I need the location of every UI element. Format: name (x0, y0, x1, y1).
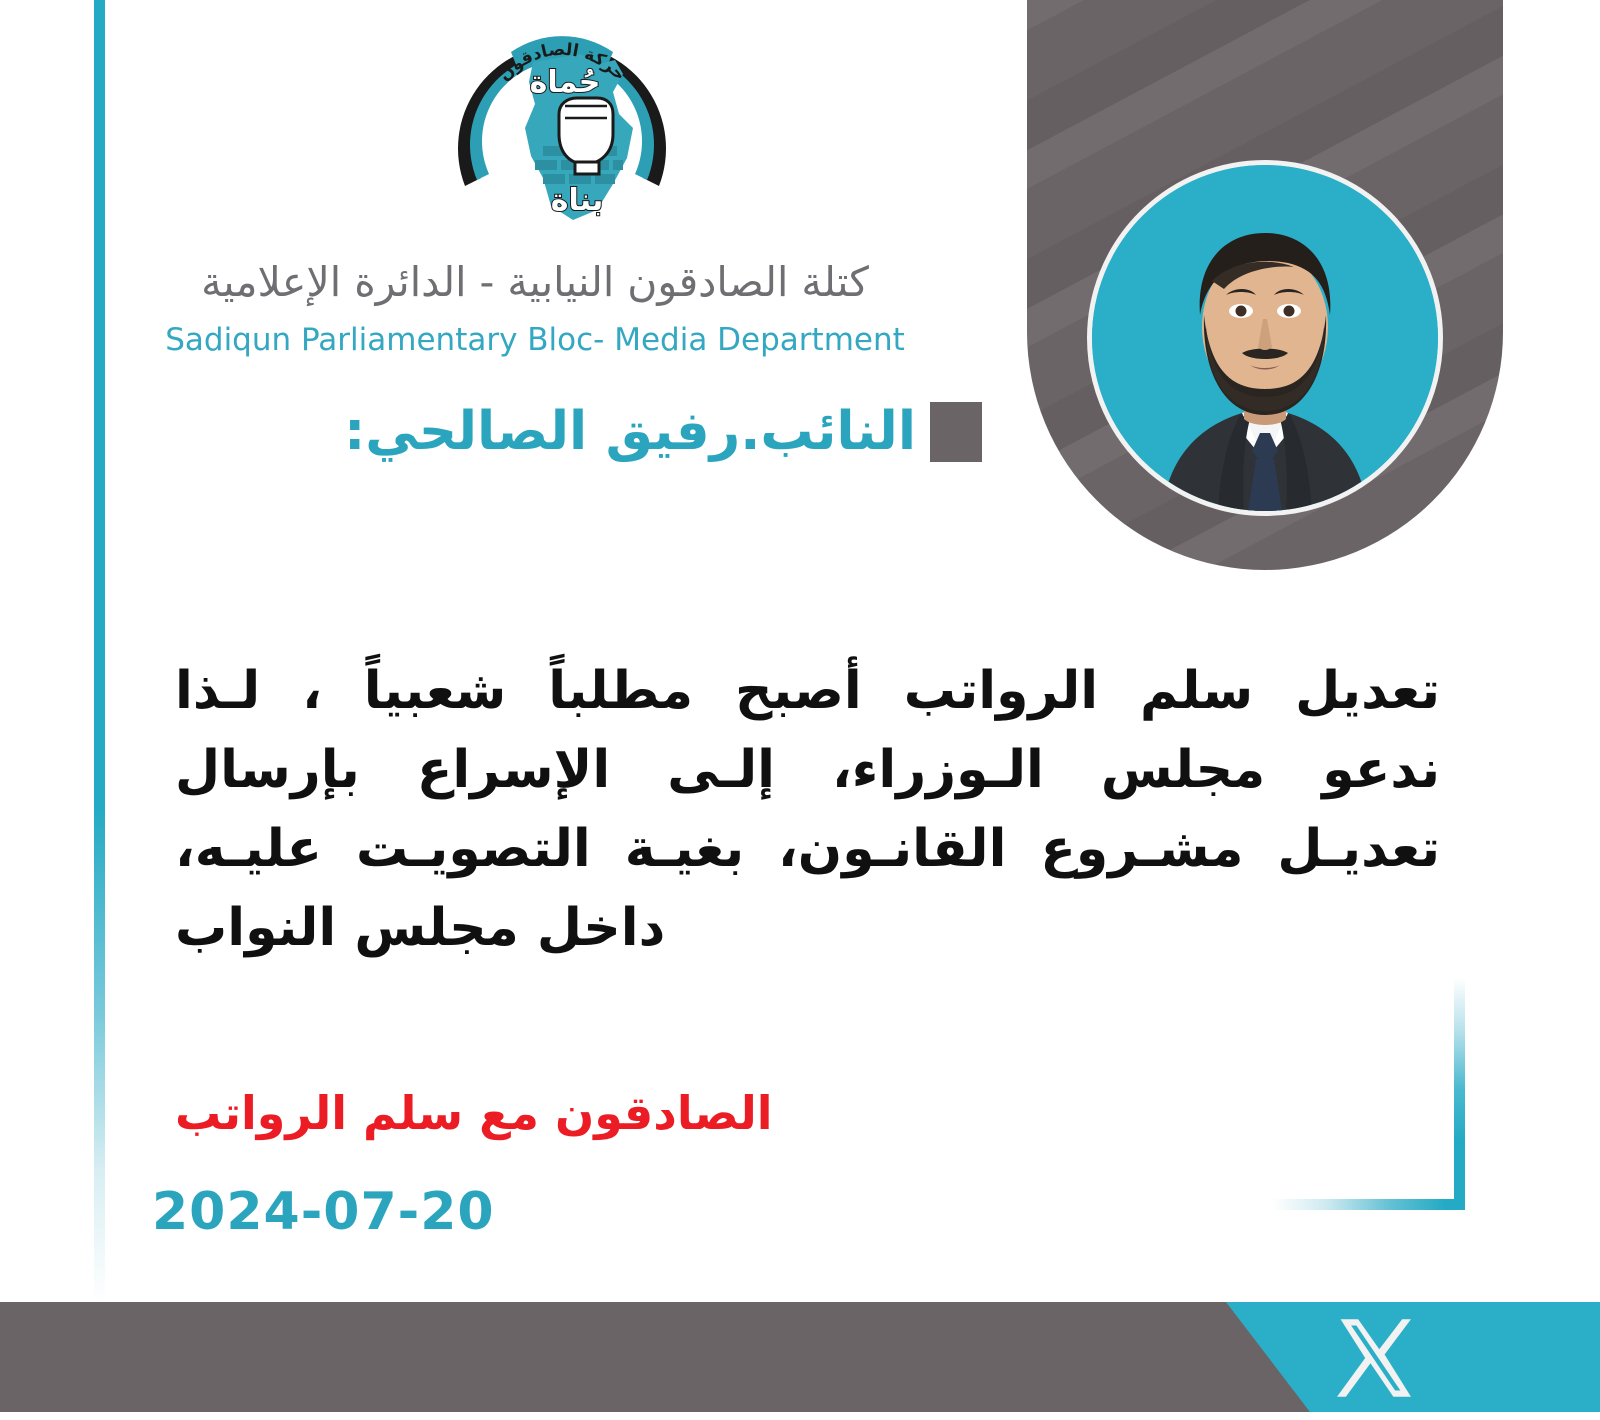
speaker-name-row: النائب.رفيق الصالحي: (0, 400, 1000, 464)
svg-text:حُماة: حُماة (530, 65, 601, 100)
svg-text:بناة: بناة (551, 183, 604, 218)
x-twitter-icon[interactable] (1330, 1314, 1418, 1402)
poster-canvas: حُماة بناة حركة الصادقون كتلة الصادقون ا… (0, 0, 1600, 1420)
org-name-arabic: كتلة الصادقون النيابية - الدائرة الإعلام… (120, 258, 950, 306)
statement-line-1: تعديل سلم الرواتب أصبح مطلباً شعبياً ، ل… (175, 652, 1440, 731)
publish-date: 2024-07-20 (152, 1182, 495, 1242)
statement-slogan: الصادقون مع سلم الرواتب (175, 1086, 1440, 1140)
footer-gray-wedge (0, 1302, 1320, 1412)
square-bullet-icon (930, 402, 982, 462)
left-accent-rule (94, 0, 105, 1302)
statement-line-3: تعديـل مشـروع القانـون، بغيـة التصويـت ع… (175, 810, 1440, 889)
right-bracket-horizontal (1272, 1199, 1465, 1210)
speaker-name: النائب.رفيق الصالحي: (344, 400, 916, 464)
sadiqun-movement-logo: حُماة بناة حركة الصادقون (447, 8, 677, 230)
avatar (1087, 160, 1443, 516)
statement-line-4: داخل مجلس النواب (175, 889, 1440, 968)
right-bracket-vertical (1454, 978, 1465, 1210)
org-name-english: Sadiqun Parliamentary Bloc- Media Depart… (120, 322, 950, 358)
portrait-panel (1027, 0, 1503, 570)
footer-bar (0, 1302, 1600, 1412)
statement-line-2: ندعو مجلس الـوزراء، إلـى الإسراع بإرسال (175, 731, 1440, 810)
statement-body: تعديل سلم الرواتب أصبح مطلباً شعبياً ، ل… (175, 652, 1440, 968)
